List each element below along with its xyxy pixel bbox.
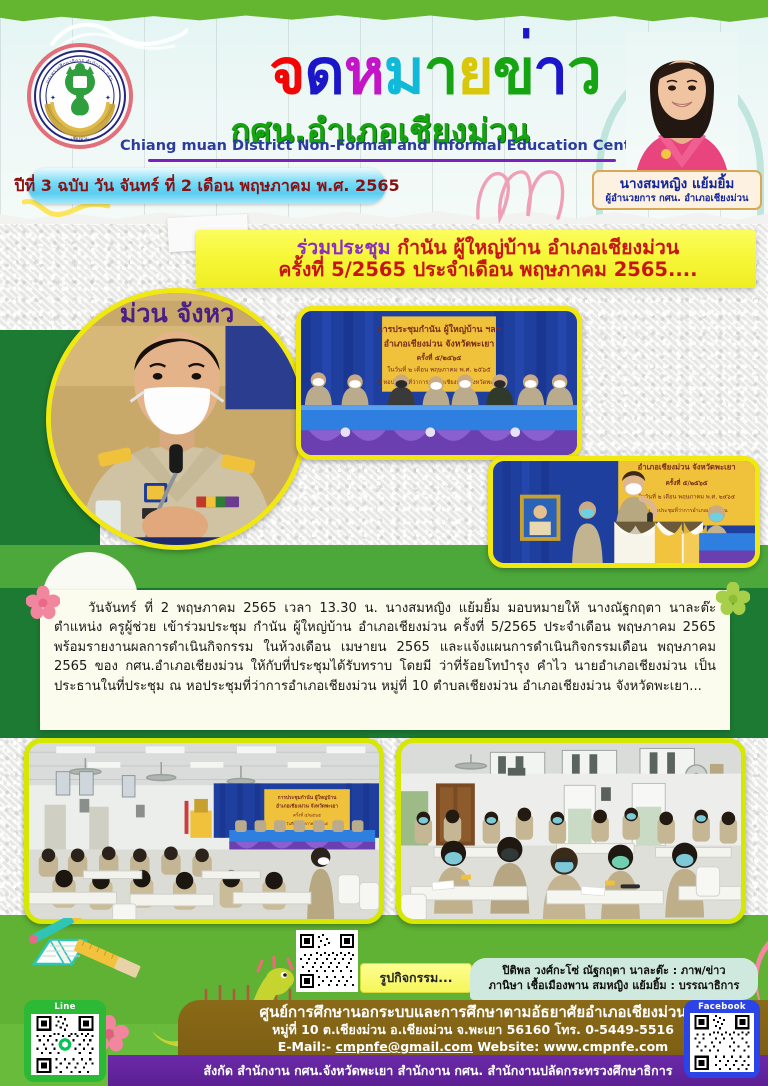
svg-text:ครั้งที่ ๕/๒๕๖๕: ครั้งที่ ๕/๒๕๖๕ bbox=[417, 352, 462, 362]
svg-text:✦: ✦ bbox=[105, 94, 111, 102]
newsletter-poster: ✦ ✦ กระทรวงศึกษาธิการ สำนักงาน กศน. เชีย… bbox=[0, 0, 768, 1086]
svg-text:ในวันที่ ๒ เดือน พฤษภาคม พ.ศ.: ในวันที่ ๒ เดือน พฤษภาคม พ.ศ. ๒๕๖๕ bbox=[638, 493, 736, 501]
line-qr-label: Line bbox=[24, 1002, 106, 1012]
headline-line-1-rest: กำนัน ผู้ใหญ่บ้าน อำเภอเชียงม่วน bbox=[390, 236, 679, 259]
footer-address: หมู่ที่ 10 ต.เชียงม่วน อ.เชียงม่วน จ.พะเ… bbox=[272, 1022, 674, 1039]
line-qr-card[interactable]: Line bbox=[24, 1000, 106, 1082]
credits-line-2: ภานิษา เชื้อเมืองพาน สมหญิง แย้มยิ้ม : บ… bbox=[489, 979, 740, 994]
svg-text:✦: ✦ bbox=[50, 94, 56, 102]
headline-banner: ร่วมประชุม กำนัน ผู้ใหญ่บ้าน อำเภอเชียงม… bbox=[196, 230, 756, 288]
photo-officer-microphone: ม่วน จังหว bbox=[46, 288, 308, 550]
photo-conference-hall: การประชุมกำนัน ผู้ใหญ่บ้าน อำเภอเชียงม่ว… bbox=[24, 738, 384, 924]
director-portrait bbox=[600, 28, 760, 188]
footer-affiliation-text: สังกัด สำนักงาน กศน.จังหวัดพะเยา สำนักงา… bbox=[204, 1061, 673, 1081]
director-name: นางสมหญิง แย้มยิ้ม bbox=[620, 176, 735, 193]
footer-website-label: Website: bbox=[477, 1039, 539, 1054]
svg-text:ม่วน จังหว: ม่วน จังหว bbox=[120, 299, 235, 328]
headline-line-1: ร่วมประชุม กำนัน ผู้ใหญ่บ้าน อำเภอเชียงม… bbox=[297, 237, 679, 259]
svg-text:การประชุมกำนัน ผู้ใหญ่บ้าน: การประชุมกำนัน ผู้ใหญ่บ้าน bbox=[278, 794, 337, 802]
headline-keyword: ร่วมประชุม bbox=[297, 236, 391, 259]
svg-text:อำเภอเชียงม่วน จังหวัดพะเยา: อำเภอเชียงม่วน จังหวัดพะเยา bbox=[638, 463, 736, 472]
facebook-qr-label: Facebook bbox=[684, 1002, 760, 1012]
page-title-main: จดหมายข่าว bbox=[250, 34, 620, 110]
photo-meeting-panel: การประชุมกำนัน ผู้ใหญ่บ้าน ฯลฯ อำเภอเชีย… bbox=[296, 306, 582, 460]
footer-contact-bar: ศูนย์การศึกษานอกระบบและการศึกษาตามอัธยาศ… bbox=[178, 1000, 768, 1058]
footer-email-label: E-Mail:- bbox=[278, 1039, 331, 1054]
headline-line-2: ครั้งที่ 5/2565 ประจำเดือน พฤษภาคม 2565.… bbox=[278, 259, 697, 281]
article-body-panel: วันจันทร์ ที่ 2 พฤษภาคม 2565 เวลา 13.30 … bbox=[40, 590, 730, 730]
pink-flower-icon bbox=[26, 586, 60, 620]
svg-text:การประชุมกำนัน ผู้ใหญ่บ้าน ฯลฯ: การประชุมกำนัน ผู้ใหญ่บ้าน ฯลฯ bbox=[378, 323, 501, 335]
footer-email-link[interactable]: cmpnfe@gmail.com bbox=[336, 1039, 473, 1054]
svg-text:ในวันที่ ๒ เดือน พฤษภาคม พ.ศ.: ในวันที่ ๒ เดือน พฤษภาคม พ.ศ. ๒๕๖๕ bbox=[387, 365, 491, 373]
pink-squiggle-decoration bbox=[470, 158, 590, 224]
director-photo-illustration bbox=[626, 32, 738, 188]
footer-affiliation-bar: สังกัด สำนักงาน กศน.จังหวัดพะเยา สำนักงา… bbox=[108, 1055, 768, 1086]
line-qr-code[interactable] bbox=[31, 1014, 99, 1075]
svg-text:เชียงม่วน: เชียงม่วน bbox=[71, 136, 89, 142]
footer-organization-name: ศูนย์การศึกษานอกระบบและการศึกษาตามอัธยาศ… bbox=[259, 1002, 686, 1022]
issue-date-badge: ปีที่ 3 ฉบับ วัน จันทร์ ที่ 2 เดือน พฤษภ… bbox=[28, 168, 386, 204]
footer-website-link[interactable]: www.cmpnfe.com bbox=[544, 1039, 669, 1054]
books-and-pencil-icon bbox=[20, 918, 150, 978]
activity-qr-code[interactable] bbox=[298, 932, 356, 990]
page-title-english: Chiang muan District Non-Formal and Info… bbox=[120, 138, 640, 154]
green-flower-icon bbox=[716, 582, 750, 616]
footer-contact-line: E-Mail:- cmpnfe@gmail.com Website: www.c… bbox=[278, 1039, 668, 1056]
photo-audience-seated bbox=[396, 738, 746, 924]
director-role: ผู้อำนวยการ กศน. อำเภอเชียงม่วน bbox=[606, 193, 749, 205]
activity-photos-tab[interactable]: รูปกิจกรรม... bbox=[360, 963, 472, 993]
ministry-of-education-emblem-icon: ✦ ✦ กระทรวงศึกษาธิการ สำนักงาน กศน. เชีย… bbox=[26, 42, 134, 150]
credits-line-1: ปิติพล วงศ์กะโซ่ ณัฐกฤตา นาละต๊ะ : ภาพ/ข… bbox=[502, 964, 725, 979]
facebook-qr-card[interactable]: Facebook bbox=[684, 1000, 760, 1078]
photo-podium-speaker: อำเภอเชียงม่วน จังหวัดพะเยา ครั้งที่ ๕/๒… bbox=[488, 456, 760, 568]
activity-qr-card[interactable] bbox=[296, 930, 358, 992]
svg-text:อำเภอเชียงม่วน จังหวัดพะเยา: อำเภอเชียงม่วน จังหวัดพะเยา bbox=[384, 338, 495, 349]
article-paragraph: วันจันทร์ ที่ 2 พฤษภาคม 2565 เวลา 13.30 … bbox=[54, 599, 716, 696]
director-nameplate: นางสมหญิง แย้มยิ้ม ผู้อำนวยการ กศน. อำเภ… bbox=[592, 170, 762, 210]
svg-text:อำเภอเชียงม่วน จังหวัดพะเยา: อำเภอเชียงม่วน จังหวัดพะเยา bbox=[276, 803, 338, 810]
credits-bubble: ปิติพล วงศ์กะโซ่ ณัฐกฤตา นาละต๊ะ : ภาพ/ข… bbox=[470, 958, 758, 1000]
facebook-qr-code[interactable] bbox=[690, 1013, 754, 1072]
svg-text:ครั้งที่ ๕/๒๕๖๕: ครั้งที่ ๕/๒๕๖๕ bbox=[293, 811, 322, 818]
